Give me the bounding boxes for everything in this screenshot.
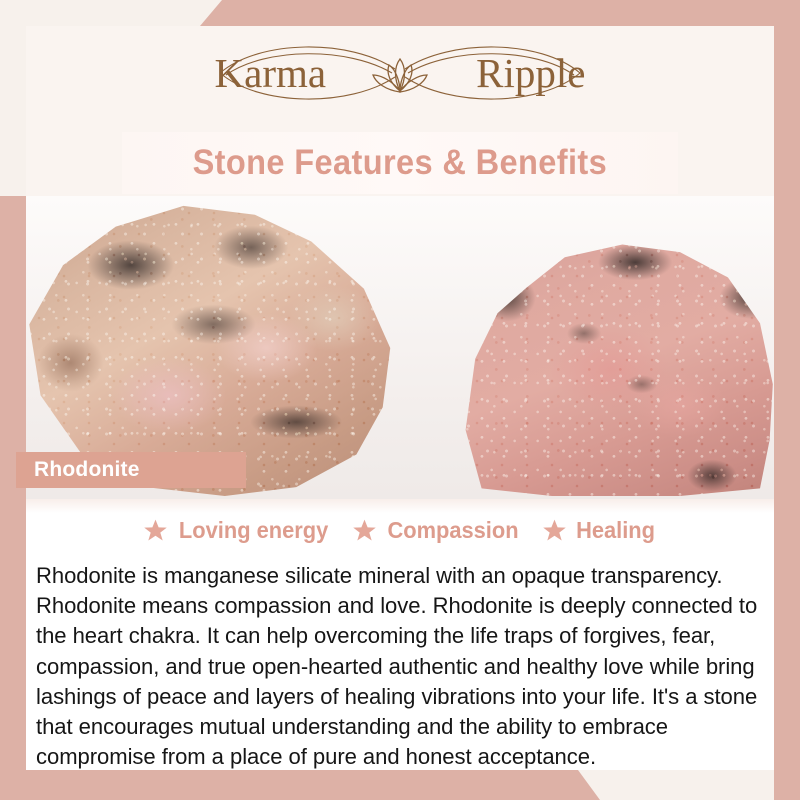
stone-name-badge: Rhodonite — [16, 452, 246, 488]
benefit-label: Loving energy — [179, 517, 328, 544]
brand-name-right: Ripple — [476, 49, 585, 97]
stone-image-right — [456, 242, 774, 496]
title-banner: Stone Features & Benefits — [122, 132, 678, 194]
star-icon — [352, 518, 377, 543]
page-title: Stone Features & Benefits — [193, 143, 607, 183]
frame-left-band — [0, 196, 26, 800]
star-icon — [542, 518, 567, 543]
stone-texture-right — [456, 242, 774, 496]
benefit-item-compassion: Compassion — [352, 517, 522, 544]
star-icon — [143, 518, 168, 543]
content-panel: Loving energy Compassion Healing Rhodoni… — [26, 499, 774, 770]
frame-top-band — [0, 0, 800, 26]
benefit-label: Compassion — [387, 517, 518, 544]
benefits-row: Loving energy Compassion Healing — [26, 517, 774, 544]
stone-name-label: Rhodonite — [34, 458, 140, 482]
brand-logo: Karma Ripple — [0, 34, 800, 112]
benefit-item-healing: Healing — [542, 517, 657, 544]
benefit-item-loving-energy: Loving energy — [143, 517, 332, 544]
content-top-fade — [26, 499, 774, 513]
frame-right-band — [774, 0, 800, 800]
infographic-page: Karma Ripple Stone Features & Benefits R… — [0, 0, 800, 800]
stone-description: Rhodonite is manganese silicate mineral … — [36, 561, 761, 772]
brand-name-left: Karma — [215, 49, 327, 97]
benefit-label: Healing — [576, 517, 655, 544]
frame-bottom-band — [0, 770, 800, 800]
